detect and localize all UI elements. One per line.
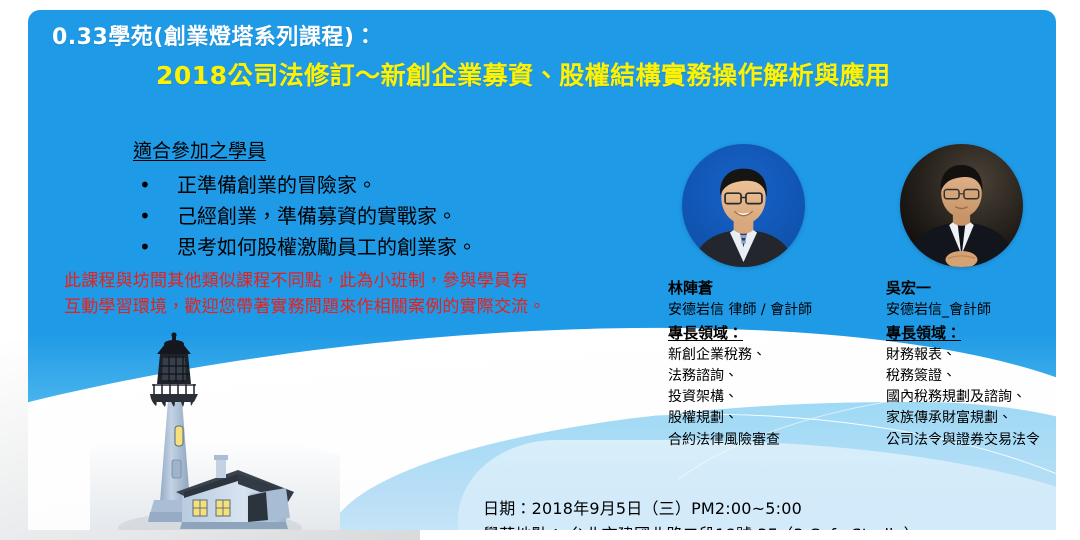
event-venue: 學苑地點： 台北市建國北路二段18號 3F（3 Cafe Studio） <box>483 522 1056 530</box>
poster-title: 0.33學苑(創業燈塔系列課程)： 2018公司法修訂～新創企業募資、股權結構實… <box>52 24 1042 91</box>
list-item: • 思考如何股權激勵員工的創業家。 <box>133 232 603 263</box>
list-item: 新創企業稅務、 <box>668 345 883 366</box>
avatar <box>900 144 1023 267</box>
speaker-skills-list: 財務報表、 稅務簽證、 國內稅務規劃及諮詢、 家族傳承財富規劃、 公司法令與證券… <box>886 345 1056 451</box>
event-details: 日期：2018年9月5日（三）PM2:00~5:00 學苑地點： 台北市建國北路… <box>483 496 1056 530</box>
list-item: 股權規劃、 <box>668 408 883 429</box>
audience-heading: 適合參加之學員 <box>133 138 603 166</box>
highlight-note-line-1: 此課程與坊間其他類似課程不同點，此為小班制，參與學員有 <box>64 268 664 294</box>
poster-canvas: 0.33學苑(創業燈塔系列課程)： 2018公司法修訂～新創企業募資、股權結構實… <box>0 0 1080 540</box>
title-line-1: 0.33學苑(創業燈塔系列課程)： <box>52 24 1042 52</box>
speaker-bio: 吳宏一 安德岩信_會計師 專長領域： 財務報表、 稅務簽證、 國內稅務規劃及諮詢… <box>886 277 1056 451</box>
bullet-icon: • <box>139 201 151 232</box>
title-line-2: 2018公司法修訂～新創企業募資、股權結構實務操作解析與應用 <box>156 60 1042 91</box>
speaker-name: 林陣蒼 <box>668 277 883 300</box>
blue-slide-panel: 0.33學苑(創業燈塔系列課程)： 2018公司法修訂～新創企業募資、股權結構實… <box>28 10 1056 530</box>
speaker-name: 吳宏一 <box>886 277 1056 300</box>
highlight-note-line-2: 互動學習環境，歡迎您帶著實務問題來作相關案例的實際交流。 <box>64 294 664 320</box>
list-item: 家族傳承財富規劃、 <box>886 408 1056 429</box>
speaker-role: 安德岩信_會計師 <box>886 300 1056 321</box>
speaker-card-wu: 吳宏一 安德岩信_會計師 專長領域： 財務報表、 稅務簽證、 國內稅務規劃及諮詢… <box>886 144 1056 451</box>
list-item-label: 思考如何股權激勵員工的創業家。 <box>177 235 477 259</box>
event-date: 日期：2018年9月5日（三）PM2:00~5:00 <box>483 496 1056 522</box>
list-item: 合約法律風險審查 <box>668 430 883 451</box>
list-item: 公司法令與證券交易法令 <box>886 430 1056 451</box>
list-item: • 己經創業，準備募資的實戰家。 <box>133 201 603 232</box>
list-item: 投資架構、 <box>668 387 883 408</box>
speaker-skills-heading: 專長領域： <box>668 321 883 345</box>
audience-section: 適合參加之學員 • 正準備創業的冒險家。 • 己經創業，準備募資的實戰家。 • … <box>133 138 603 263</box>
speaker-skills-heading: 專長領域： <box>886 321 1056 345</box>
speaker-role: 安德岩信 律師 / 會計師 <box>668 300 883 321</box>
audience-list: • 正準備創業的冒險家。 • 己經創業，準備募資的實戰家。 • 思考如何股權激勵… <box>133 170 603 263</box>
list-item: 稅務簽證、 <box>886 366 1056 387</box>
speaker-skills-list: 新創企業稅務、 法務諮詢、 投資架構、 股權規劃、 合約法律風險審查 <box>668 345 883 451</box>
bullet-icon: • <box>139 232 151 263</box>
highlight-note: 此課程與坊間其他類似課程不同點，此為小班制，參與學員有 互動學習環境，歡迎您帶著… <box>64 268 664 321</box>
bullet-icon: • <box>139 170 151 201</box>
list-item-label: 正準備創業的冒險家。 <box>177 173 377 197</box>
list-item: 財務報表、 <box>886 345 1056 366</box>
speaker-bio: 林陣蒼 安德岩信 律師 / 會計師 專長領域： 新創企業稅務、 法務諮詢、 投資… <box>668 277 883 451</box>
list-item: • 正準備創業的冒險家。 <box>133 170 603 201</box>
speaker-card-lin: 林陣蒼 安德岩信 律師 / 會計師 專長領域： 新創企業稅務、 法務諮詢、 投資… <box>668 144 883 451</box>
avatar <box>682 144 805 267</box>
list-item: 法務諮詢、 <box>668 366 883 387</box>
lighthouse-icon <box>90 332 340 530</box>
list-item: 國內稅務規劃及諮詢、 <box>886 387 1056 408</box>
list-item-label: 己經創業，準備募資的實戰家。 <box>177 204 457 228</box>
